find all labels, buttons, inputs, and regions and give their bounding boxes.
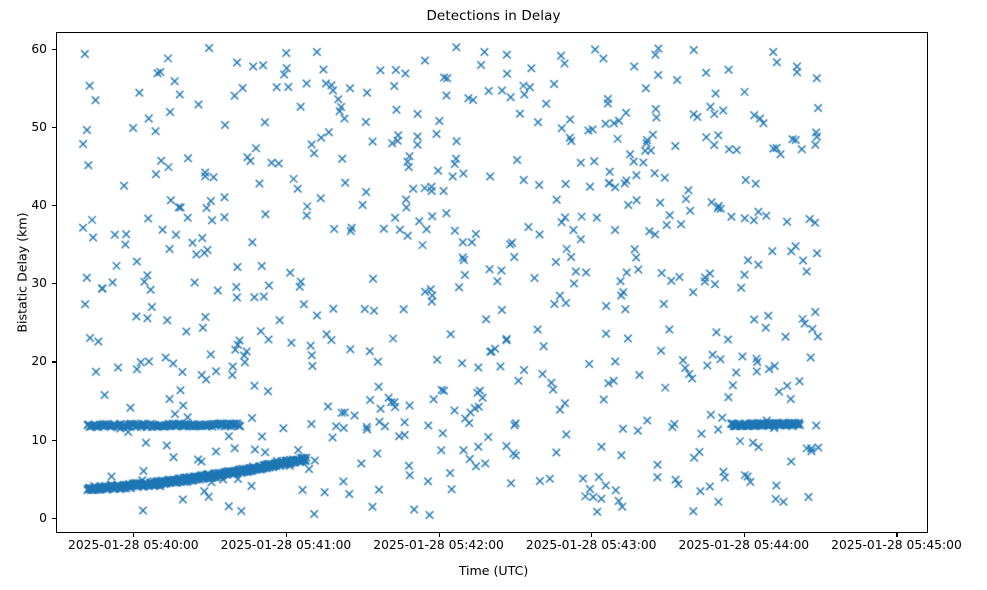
x-tick-label: 2025-01-28 05:43:00: [526, 538, 657, 552]
plot-area[interactable]: [56, 32, 928, 533]
x-tick-label: 2025-01-28 05:41:00: [221, 538, 352, 552]
chart-title: Detections in Delay: [0, 8, 987, 24]
x-tick-label: 2025-01-28 05:44:00: [679, 538, 810, 552]
x-tick-mark: [439, 533, 440, 537]
y-tick-label: 0: [39, 511, 47, 525]
x-tick-mark: [286, 533, 287, 537]
x-tick-mark: [896, 533, 897, 537]
y-tick-label: 10: [31, 433, 47, 447]
x-axis-label: Time (UTC): [0, 563, 987, 578]
x-tick-mark: [744, 533, 745, 537]
y-tick-label: 40: [31, 198, 47, 212]
y-tick-label: 20: [31, 354, 47, 368]
y-tick-label: 60: [31, 42, 47, 56]
x-tick-label: 2025-01-28 05:42:00: [373, 538, 504, 552]
x-tick-mark: [133, 533, 134, 537]
y-tick-label: 30: [31, 276, 47, 290]
x-tick-label: 2025-01-28 05:45:00: [831, 538, 962, 552]
scatter-series: [57, 33, 927, 532]
x-tick-mark: [591, 533, 592, 537]
y-axis-label: Bistatic Delay (km): [15, 173, 30, 373]
x-tick-label: 2025-01-28 05:40:00: [68, 538, 199, 552]
y-tick-label: 50: [31, 120, 47, 134]
figure: Detections in Delay 0102030405060 2025-0…: [0, 0, 987, 590]
